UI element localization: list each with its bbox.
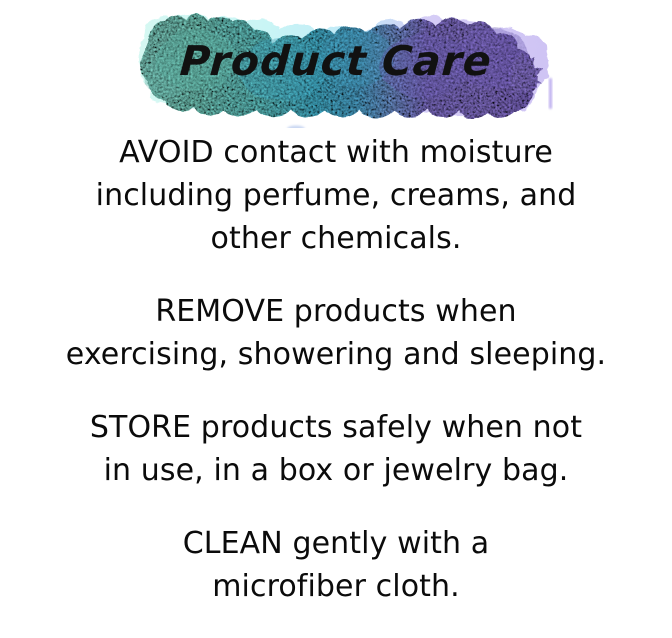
product-care-card: Product Care AVOID contact with moisture… [0,0,672,582]
care-instruction-store: STORE products safely when not in use, i… [0,406,672,492]
care-instruction-avoid: AVOID contact with moisture including pe… [0,131,672,260]
page-title: Product Care [0,36,672,86]
care-instruction-remove: REMOVE products when exercising, showeri… [0,290,672,376]
banner-speck [287,126,305,129]
care-instruction-clean: CLEAN gently with a microfiber cloth. [0,522,672,608]
care-instructions-list: AVOID contact with moisture including pe… [0,131,672,638]
